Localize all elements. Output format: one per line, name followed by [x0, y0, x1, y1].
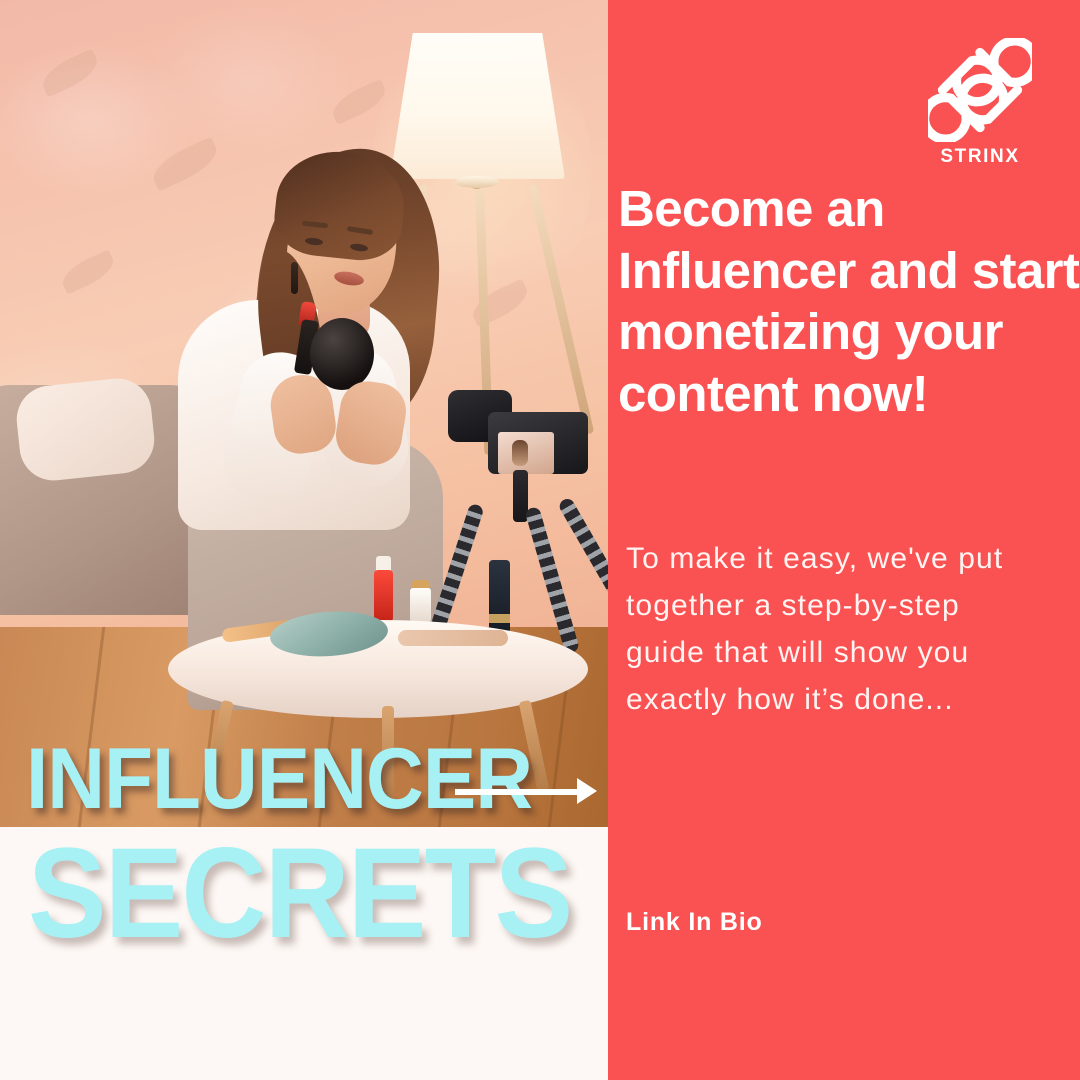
- hero-photo: [0, 0, 608, 827]
- link-in-bio-cta[interactable]: Link In Bio: [626, 908, 763, 937]
- makeup-compact-icon: [310, 318, 374, 390]
- social-media-promo-poster: INFLUENCER SECRETS STRINX Become an Infl…: [0, 0, 1080, 1080]
- brand-name: STRINX: [921, 146, 1039, 168]
- panel-headline: Become an Influencer and start monetizin…: [618, 178, 1080, 425]
- overlay-title-line2: SECRETS: [28, 833, 571, 955]
- interlocking-knot-logo-icon: [928, 38, 1032, 142]
- panel-body-text: To make it easy, we've put together a st…: [626, 535, 1046, 723]
- cushion: [13, 375, 157, 484]
- floor-lamp-icon: [390, 33, 565, 179]
- nail-polish-icon: [374, 570, 393, 622]
- lipstick-tube-icon: [489, 560, 510, 638]
- arrow-right-icon: [455, 778, 597, 804]
- brand-logo[interactable]: STRINX: [921, 38, 1039, 178]
